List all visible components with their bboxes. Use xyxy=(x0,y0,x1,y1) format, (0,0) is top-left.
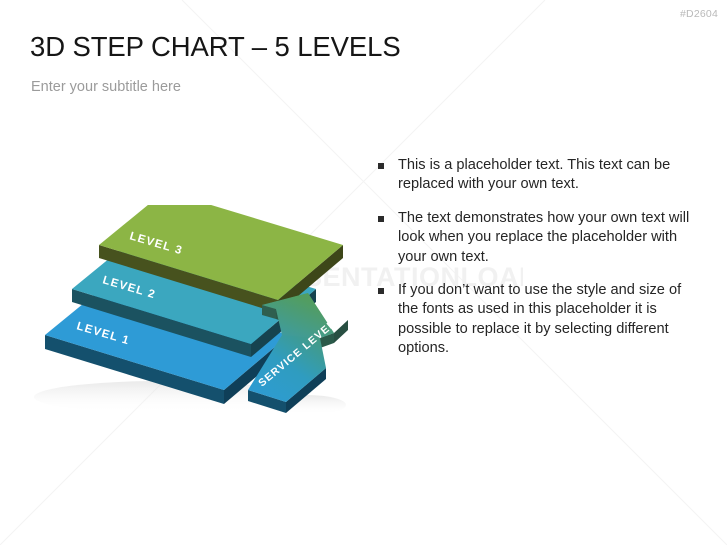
list-item: This is a placeholder text. This text ca… xyxy=(378,156,698,195)
page-title: 3D STEP CHART – 5 LEVELS xyxy=(30,31,401,63)
list-item: If you don’t want to use the style and s… xyxy=(378,281,698,359)
arrow-head-right-side xyxy=(334,320,348,343)
bullet-list: This is a placeholder text. This text ca… xyxy=(378,156,698,373)
three-d-step-chart[interactable]: LEVEL 1 LEVEL 2 LEVEL 3 xyxy=(24,205,364,430)
bullet-text[interactable]: This is a placeholder text. This text ca… xyxy=(398,156,698,195)
square-bullet-icon xyxy=(378,216,384,222)
document-id: #D2604 xyxy=(680,8,718,20)
list-item: The text demonstrates how your own text … xyxy=(378,209,698,267)
bullet-text[interactable]: If you don’t want to use the style and s… xyxy=(398,281,698,359)
slide-canvas: #D2604 3D STEP CHART – 5 LEVELS Enter yo… xyxy=(0,0,727,545)
square-bullet-icon xyxy=(378,288,384,294)
page-subtitle[interactable]: Enter your subtitle here xyxy=(31,79,181,95)
bullet-text[interactable]: The text demonstrates how your own text … xyxy=(398,209,698,267)
square-bullet-icon xyxy=(378,163,384,169)
